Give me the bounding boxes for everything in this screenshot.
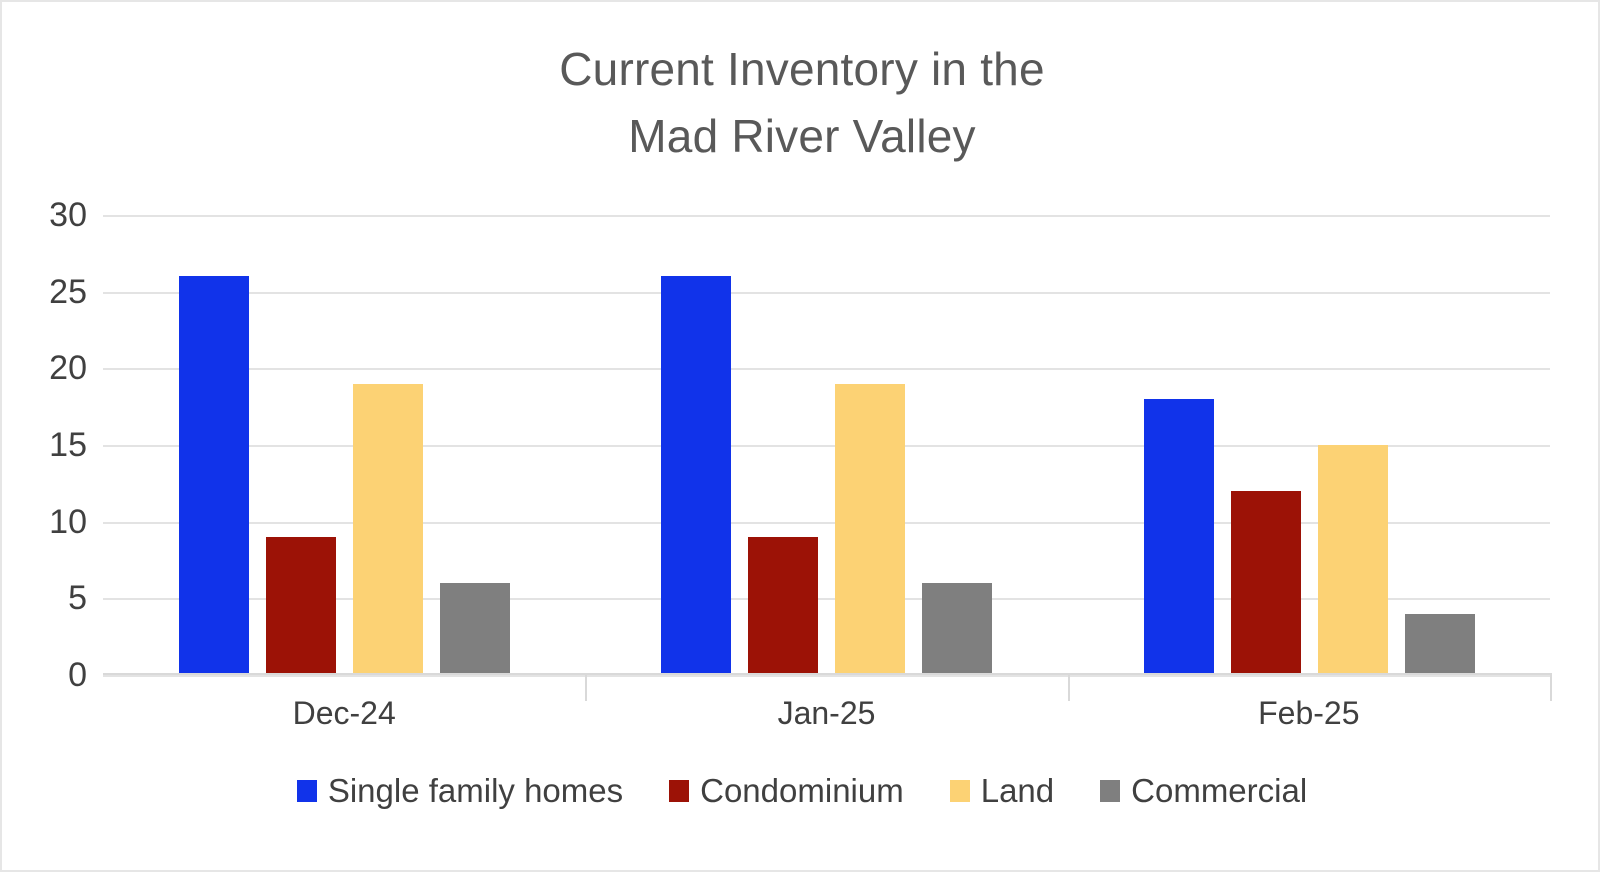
chart-title-line-1: Current Inventory in the xyxy=(2,36,1600,103)
y-tick-label: 30 xyxy=(17,198,87,232)
bar[interactable] xyxy=(1144,399,1214,675)
legend-item[interactable]: Commercial xyxy=(1100,774,1307,807)
bar[interactable] xyxy=(835,384,905,675)
bar-group-dec-24 xyxy=(103,215,585,675)
x-tick-label-jan-25: Jan-25 xyxy=(778,694,876,732)
plot-area xyxy=(103,215,1550,675)
y-tick-label: 5 xyxy=(17,581,87,615)
chart-title-line-2: Mad River Valley xyxy=(2,103,1600,170)
legend-swatch-icon xyxy=(1100,780,1120,802)
y-tick-label: 20 xyxy=(17,351,87,385)
gridline xyxy=(103,675,1550,677)
x-tick-label-feb-25: Feb-25 xyxy=(1258,694,1359,732)
legend-swatch-icon xyxy=(669,780,689,802)
bar-group-feb-25 xyxy=(1068,215,1550,675)
legend-item[interactable]: Single family homes xyxy=(297,774,623,807)
x-tick-label-dec-24: Dec-24 xyxy=(293,694,396,732)
y-tick-label: 25 xyxy=(17,275,87,309)
bar[interactable] xyxy=(661,276,731,675)
bar[interactable] xyxy=(922,583,992,675)
legend-label: Condominium xyxy=(700,774,904,807)
y-tick-label: 10 xyxy=(17,505,87,539)
legend-item[interactable]: Land xyxy=(950,774,1054,807)
bar[interactable] xyxy=(1231,491,1301,675)
legend-swatch-icon xyxy=(950,780,970,802)
legend-label: Single family homes xyxy=(328,774,623,807)
chart-legend: Single family homesCondominiumLandCommer… xyxy=(2,774,1600,807)
x-axis-tick-labels: Dec-24Jan-25Feb-25 xyxy=(103,694,1550,744)
legend-label: Commercial xyxy=(1131,774,1307,807)
bar[interactable] xyxy=(266,537,336,675)
legend-item[interactable]: Condominium xyxy=(669,774,904,807)
bar-group-jan-25 xyxy=(585,215,1067,675)
legend-swatch-icon xyxy=(297,780,317,802)
x-axis-line xyxy=(103,673,1550,675)
bar[interactable] xyxy=(1318,445,1388,675)
legend-label: Land xyxy=(981,774,1054,807)
bar[interactable] xyxy=(1405,614,1475,675)
y-axis-tick-labels: 051015202530 xyxy=(12,2,87,872)
y-tick-label: 15 xyxy=(17,428,87,462)
chart-title: Current Inventory in the Mad River Valle… xyxy=(2,36,1600,169)
bar[interactable] xyxy=(353,384,423,675)
category-separator xyxy=(1550,673,1552,701)
bar[interactable] xyxy=(440,583,510,675)
bar[interactable] xyxy=(179,276,249,675)
chart-container: Current Inventory in the Mad River Valle… xyxy=(0,0,1600,872)
bar[interactable] xyxy=(748,537,818,675)
y-tick-label: 0 xyxy=(17,658,87,692)
